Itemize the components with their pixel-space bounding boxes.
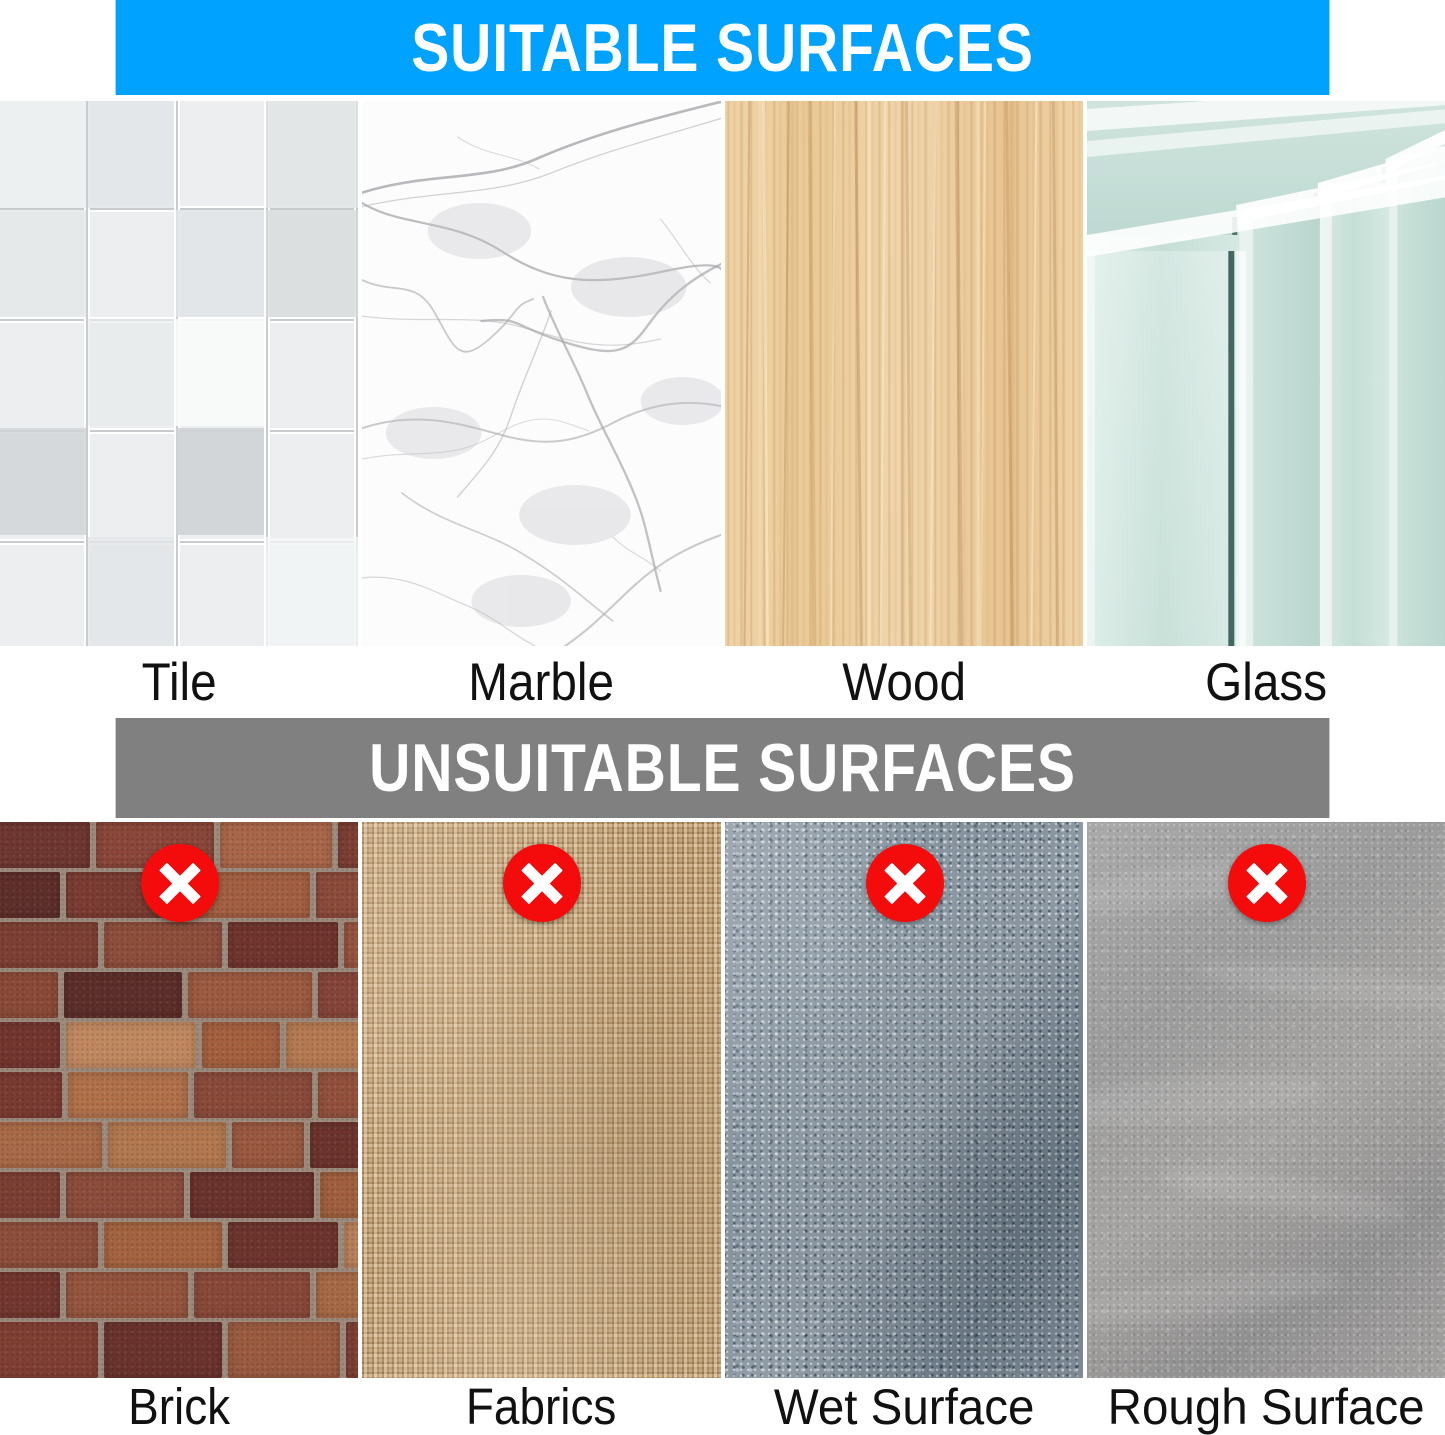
glass-panes: [1087, 101, 1445, 646]
suitable-banner-title: SUITABLE SURFACES: [411, 9, 1034, 87]
surface-label-brick: Brick: [18, 1380, 340, 1433]
marble-veining: [362, 101, 720, 646]
surface-image-marble: [362, 101, 720, 646]
cross-circle-icon-fabrics: [503, 844, 581, 922]
suitable-label-row: Tile Marble Wood Glass: [0, 648, 1445, 716]
suitable-surfaces-infographic: SUITABLE SURFACES: [0, 0, 1445, 1433]
surface-label-wet-surface: Wet Surface: [733, 1380, 1073, 1433]
surface-image-brick: [0, 822, 358, 1378]
surface-image-fabrics: [362, 822, 720, 1378]
surface-label-marble: Marble: [380, 648, 702, 716]
unsuitable-banner-title: UNSUITABLE SURFACES: [369, 729, 1076, 807]
unsuitable-label-row: Brick Fabrics Wet Surface Rough Surface: [0, 1380, 1445, 1433]
surface-label-rough-surface: Rough Surface: [1096, 1380, 1436, 1433]
tile-shading: [0, 101, 358, 646]
surface-label-wood: Wood: [742, 648, 1064, 716]
surface-label-glass: Glass: [1105, 648, 1427, 716]
surface-image-glass: [1087, 101, 1445, 646]
suitable-surfaces-banner: SUITABLE SURFACES: [116, 0, 1330, 95]
cross-circle-icon-wet-surface: [866, 844, 944, 922]
surface-image-wet-surface: [725, 822, 1083, 1378]
unsuitable-panel-row: [0, 822, 1445, 1378]
surface-image-wood: [725, 101, 1083, 646]
cross-circle-icon-brick: [141, 844, 219, 922]
surface-image-tile: [0, 101, 358, 646]
surface-label-tile: Tile: [18, 648, 340, 716]
surface-label-fabrics: Fabrics: [380, 1380, 702, 1433]
unsuitable-surfaces-banner: UNSUITABLE SURFACES: [116, 718, 1330, 818]
suitable-panel-row: [0, 101, 1445, 646]
wood-grain: [725, 101, 1083, 646]
cross-circle-icon-rough-surface: [1228, 844, 1306, 922]
surface-image-rough-surface: [1087, 822, 1445, 1378]
